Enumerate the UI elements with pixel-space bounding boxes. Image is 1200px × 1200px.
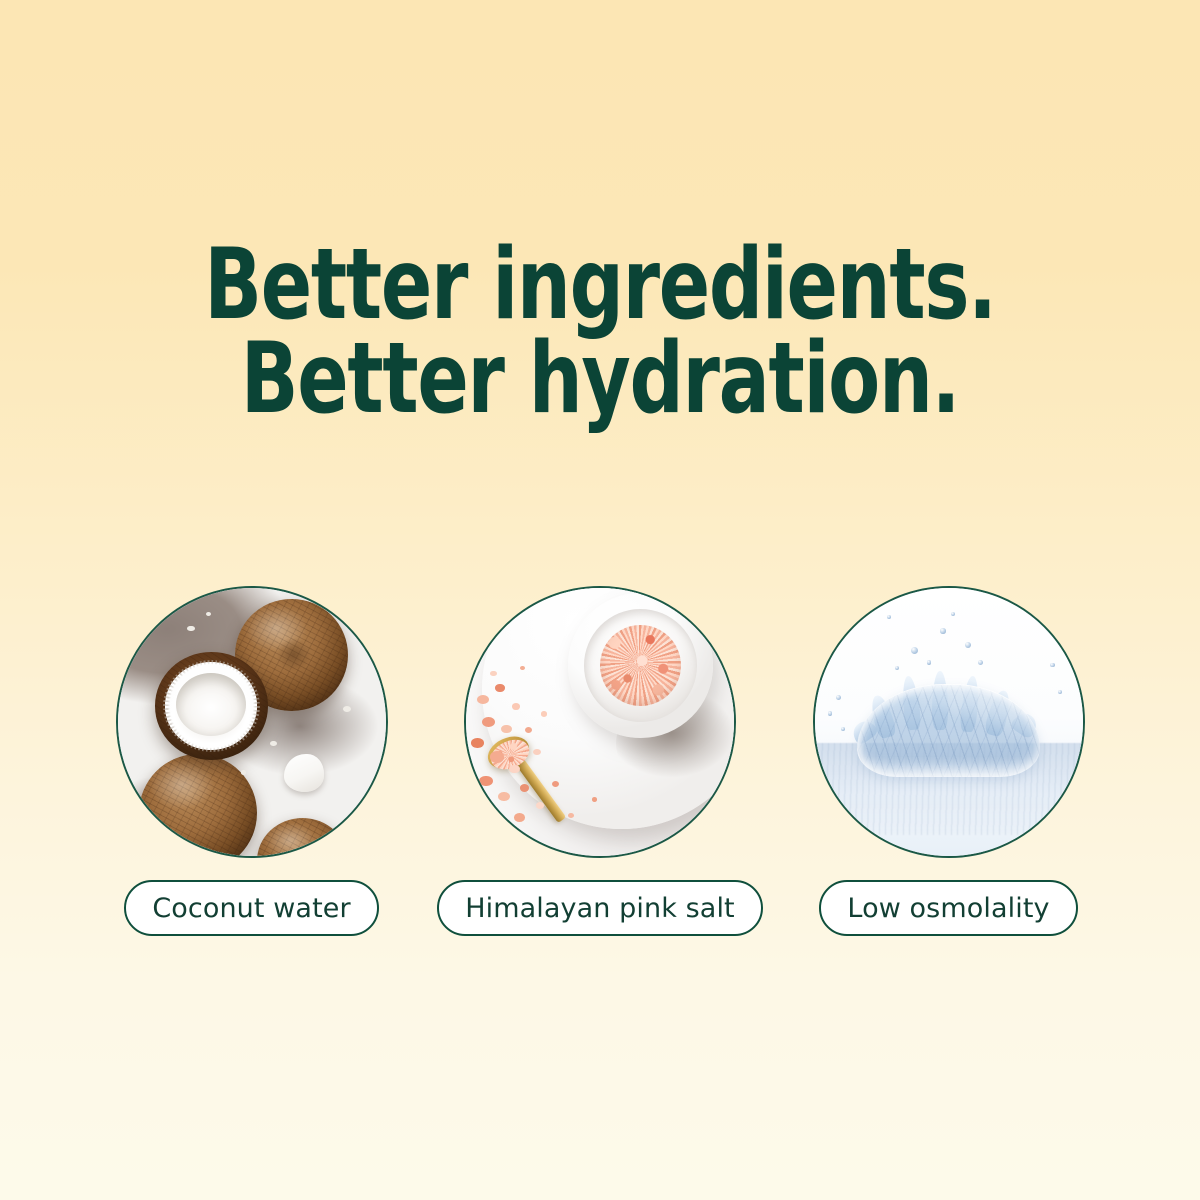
feature-card-row: Coconut water [100,586,1100,936]
salt-crystal [512,703,520,709]
water-droplet [940,628,945,633]
water-splash-photo [813,586,1085,858]
salt-crystal [552,781,559,787]
coconut-photo [116,586,388,858]
salt-crystal [509,765,520,774]
water-droplet [911,647,918,654]
salt-crystal [490,671,496,676]
salt-crystal [514,813,525,822]
coconut-flesh-rim [163,660,260,752]
salt-crystal [495,684,504,692]
water-droplet [836,695,841,700]
salt-crystal [592,797,597,802]
salt-crystal [520,784,530,792]
feature-label-coconut-water[interactable]: Coconut water [124,880,378,936]
feature-label-himalayan-pink-salt[interactable]: Himalayan pink salt [437,880,763,936]
water-droplet [927,660,931,664]
salt-crystal [501,725,512,734]
feature-label-text: Himalayan pink salt [465,893,735,924]
salt-crystal [477,695,489,704]
feature-label-low-osmolality[interactable]: Low osmolality [819,880,1077,936]
feature-card-himalayan-pink-salt[interactable]: Himalayan pink salt [449,586,752,936]
water-droplet [1050,663,1054,667]
salt-crystal [479,776,492,787]
halved-coconut-icon [155,652,268,759]
salt-crystal [568,813,574,818]
white-bowl-icon [568,593,713,738]
feature-label-text: Low osmolality [847,893,1049,924]
headline-line-2: Better hydration. [84,332,1116,426]
water-droplet [1058,690,1062,694]
promo-poster: Better ingredients. Better hydration. [0,0,1200,1200]
feature-label-text: Coconut water [152,893,350,924]
page-title: Better ingredients. Better hydration. [84,238,1116,426]
salt-crystal [490,751,504,762]
whole-coconut-bottom-icon [139,754,257,858]
coconut-crumb [241,770,246,774]
feature-card-low-osmolality[interactable]: Low osmolality [797,586,1100,936]
salt-crystal [471,738,483,748]
salt-crystal [498,792,510,802]
water-droplet [887,615,891,619]
salt-crystal [541,711,547,716]
water-droplet [978,660,983,665]
water-droplet [828,711,832,715]
salt-mound-icon [600,625,681,706]
coconut-water-droplet-icon [284,754,324,792]
headline-line-1: Better ingredients. [84,238,1116,332]
feature-card-coconut-water[interactable]: Coconut water [100,586,403,936]
water-droplet [965,642,971,648]
pink-salt-photo [464,586,736,858]
